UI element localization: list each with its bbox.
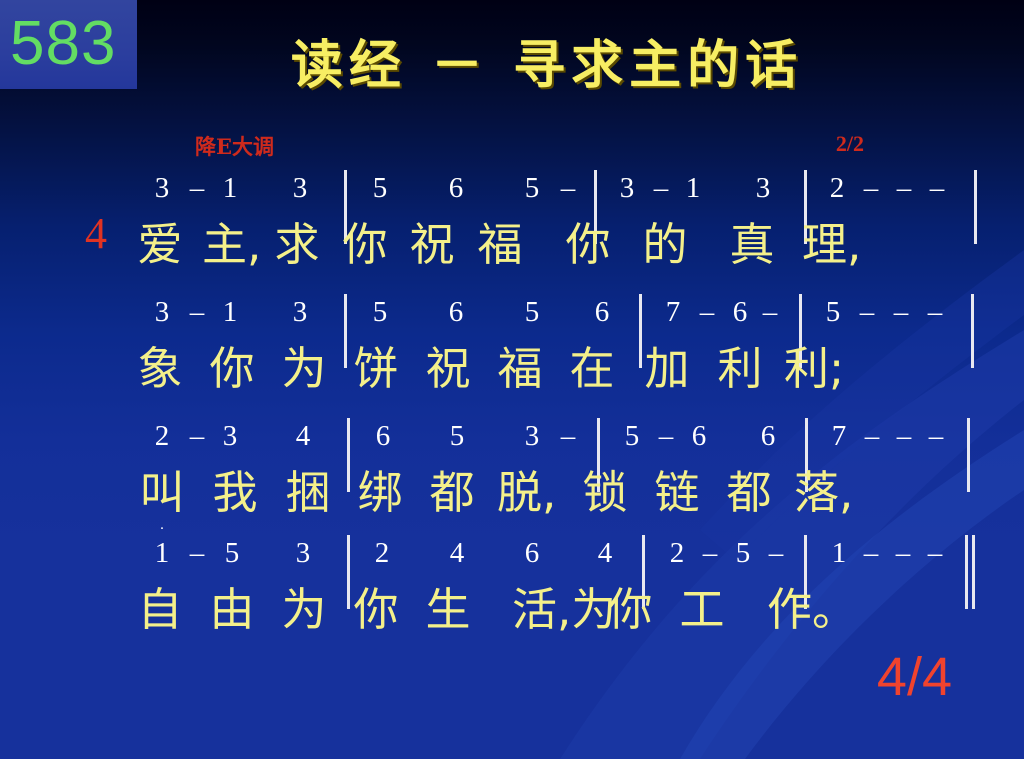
lyric-syllable: 自 — [132, 573, 188, 638]
note-duration-dash: – — [856, 296, 878, 329]
lyric-line: 叫我捆绑都脱,锁链都落, — [140, 456, 960, 518]
lyric-syllable: 你 — [348, 573, 404, 638]
octave-dot: · — [145, 524, 179, 534]
note-number: 6 — [751, 420, 785, 453]
lyric-syllable: 理, — [802, 208, 858, 273]
music-system: 2–34653–5–667–––叫我捆绑都脱,锁链都落, — [0, 416, 1024, 534]
lyric-syllable: 绑 — [352, 456, 408, 521]
note-number: ·1 — [145, 537, 179, 570]
note-number: 4 — [588, 537, 622, 570]
note-number: 2 — [820, 172, 854, 205]
note-number: 6 — [515, 537, 549, 570]
note-number: 1 — [676, 172, 710, 205]
note-number: 7 — [822, 420, 856, 453]
lyric-syllable: 加 — [639, 332, 695, 397]
lyric-syllable: 你 — [337, 208, 393, 273]
key-meter-row: 降E大调 2/2 — [195, 131, 864, 157]
lyric-syllable: 为 — [276, 573, 332, 638]
lyric-syllable: 求 — [269, 208, 325, 273]
notation-line: 2–34653–5–667––– — [140, 416, 930, 460]
notation-line: 3–1356567–6–5––– — [140, 292, 930, 336]
note-number: 1 — [822, 537, 856, 570]
note-duration-dash: – — [557, 420, 579, 453]
note-number: 3 — [283, 296, 317, 329]
note-duration-dash: – — [925, 420, 947, 453]
lyric-syllable: 在 — [564, 332, 620, 397]
note-duration-dash: – — [890, 296, 912, 329]
lyric-syllable: 脱, — [497, 456, 553, 521]
note-number: 3 — [286, 537, 320, 570]
music-system: ·1–5324642–5–1–––自由为你生活,为你工作。 — [0, 533, 1024, 651]
notation-line: 3–13565–3–132––– — [140, 168, 930, 212]
barline — [974, 170, 977, 244]
note-duration-dash: – — [186, 537, 208, 570]
lyric-syllable: 主, — [202, 208, 258, 273]
note-duration-dash: – — [650, 172, 672, 205]
note-duration-dash: – — [186, 172, 208, 205]
note-number: 7 — [656, 296, 690, 329]
note-number: 6 — [723, 296, 757, 329]
note-number: 6 — [585, 296, 619, 329]
barline — [967, 418, 970, 492]
note-number: 3 — [213, 420, 247, 453]
lyric-syllable: 生 — [420, 573, 476, 638]
lyric-syllable: 饼 — [348, 332, 404, 397]
lyric-syllable: 捆 — [280, 456, 336, 521]
double-barline — [965, 535, 968, 609]
note-number: 3 — [145, 296, 179, 329]
lyric-syllable: 为 — [276, 332, 332, 397]
note-duration-dash: – — [557, 172, 579, 205]
music-system: 3–1356567–6–5–––象你为饼祝福在加利利; — [0, 292, 1024, 410]
note-number: 5 — [515, 172, 549, 205]
note-duration-dash: – — [893, 420, 915, 453]
lyric-syllable: 祝 — [420, 332, 476, 397]
lyric-syllable: 都 — [721, 456, 777, 521]
note-number: 6 — [439, 296, 473, 329]
note-number: 1 — [213, 296, 247, 329]
lyric-syllable: 爱 — [132, 208, 188, 273]
lyric-syllable: 工 — [674, 573, 730, 638]
lyric-syllable: 你 — [602, 573, 658, 638]
note-duration-dash: – — [759, 296, 781, 329]
key-signature: 降E大调 — [195, 131, 274, 161]
slide-canvas: 583 读经 － 寻求主的话 降E大调 2/2 3–13565–3–132–––… — [0, 0, 1024, 759]
lyric-syllable: 真 — [724, 208, 780, 273]
lyric-syllable: 你 — [560, 208, 616, 273]
verse-number: 4 — [85, 208, 107, 259]
note-duration-dash: – — [696, 296, 718, 329]
note-duration-dash: – — [924, 296, 946, 329]
lyric-line: 4爱主,求你祝福你的真理, — [140, 208, 960, 270]
time-signature: 2/2 — [836, 131, 864, 157]
note-duration-dash: – — [860, 537, 882, 570]
lyric-syllable: 象 — [132, 332, 188, 397]
note-number: 2 — [365, 537, 399, 570]
page-counter: 4/4 — [877, 650, 952, 704]
note-number: 2 — [145, 420, 179, 453]
note-duration-dash: – — [655, 420, 677, 453]
note-number: 1 — [213, 172, 247, 205]
note-duration-dash: – — [892, 537, 914, 570]
lyric-syllable: 锁 — [577, 456, 633, 521]
note-number: 5 — [615, 420, 649, 453]
lyric-syllable: 福 — [472, 208, 528, 273]
note-number: 5 — [726, 537, 760, 570]
page-title: 读经 － 寻求主的话 — [0, 36, 1024, 96]
lyric-syllable: 利 — [712, 332, 768, 397]
lyric-syllable: 活,为 — [512, 573, 568, 638]
note-number: 6 — [439, 172, 473, 205]
note-number: 6 — [682, 420, 716, 453]
lyric-syllable: 祝 — [404, 208, 460, 273]
note-number: 3 — [515, 420, 549, 453]
lyric-syllable: 都 — [424, 456, 480, 521]
note-duration-dash: – — [186, 296, 208, 329]
note-duration-dash: – — [861, 420, 883, 453]
music-system: 3–13565–3–132–––4爱主,求你祝福你的真理, — [0, 168, 1024, 286]
note-number: 4 — [286, 420, 320, 453]
lyric-syllable: 叫 — [134, 456, 190, 521]
note-number: 6 — [366, 420, 400, 453]
barline — [971, 294, 974, 368]
note-number: 5 — [363, 296, 397, 329]
note-number: 5 — [440, 420, 474, 453]
note-number: 2 — [660, 537, 694, 570]
note-duration-dash: – — [186, 420, 208, 453]
note-number: 3 — [283, 172, 317, 205]
lyric-syllable: 由 — [204, 573, 260, 638]
note-duration-dash: – — [926, 172, 948, 205]
lyric-syllable: 利; — [784, 332, 840, 397]
note-duration-dash: – — [924, 537, 946, 570]
note-number: 5 — [363, 172, 397, 205]
note-duration-dash: – — [860, 172, 882, 205]
note-number: 5 — [215, 537, 249, 570]
note-number: 3 — [145, 172, 179, 205]
lyric-syllable: 的 — [637, 208, 693, 273]
note-number: 4 — [440, 537, 474, 570]
lyric-syllable: 福 — [492, 332, 548, 397]
note-number: 5 — [816, 296, 850, 329]
note-number: 5 — [515, 296, 549, 329]
lyric-line: 自由为你生活,为你工作。 — [140, 573, 960, 635]
lyric-syllable: 作。 — [767, 573, 823, 638]
notation-line: ·1–5324642–5–1––– — [140, 533, 930, 577]
lyric-syllable: 链 — [649, 456, 705, 521]
note-duration-dash: – — [893, 172, 915, 205]
lyric-line: 象你为饼祝福在加利利; — [140, 332, 960, 394]
lyric-syllable: 你 — [204, 332, 260, 397]
note-number: 3 — [746, 172, 780, 205]
note-duration-dash: – — [699, 537, 721, 570]
note-number: 3 — [610, 172, 644, 205]
note-duration-dash: – — [765, 537, 787, 570]
lyric-syllable: 我 — [207, 456, 263, 521]
lyric-syllable: 落, — [794, 456, 850, 521]
